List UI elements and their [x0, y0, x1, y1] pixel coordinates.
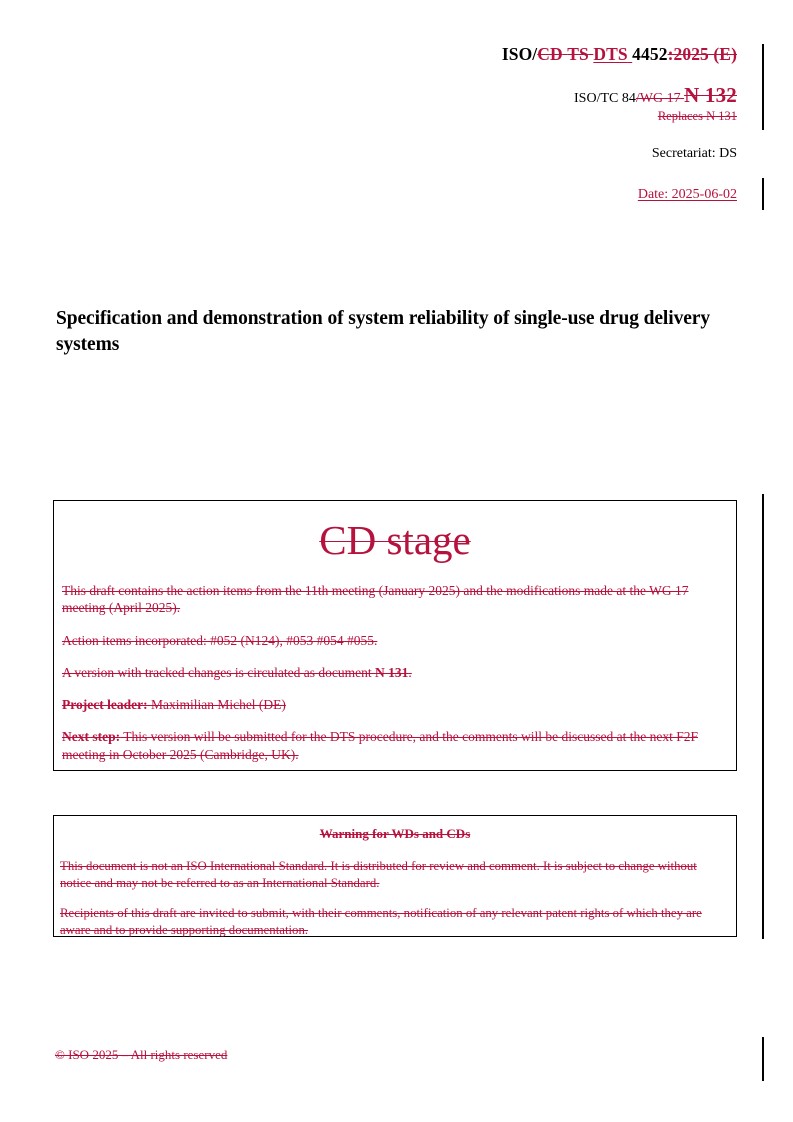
reference-number: 4452	[632, 44, 667, 64]
tracked-changes-tail: .	[408, 665, 411, 680]
stage-paragraph-action-items: Action items incorporated: #052 (N124), …	[62, 632, 728, 649]
tracked-changes-lead: A version with tracked changes is circul…	[62, 665, 375, 680]
stage-paragraph-draft-contents-text: This draft contains the action items fro…	[62, 583, 688, 615]
change-bar-date	[762, 178, 764, 210]
page-footer: © ISO 2025 – All rights reserved	[55, 1047, 227, 1063]
reference-deleted-stage-ts: TS	[567, 44, 589, 64]
change-bar-footer	[762, 1037, 764, 1081]
committee-deleted-wg: /WG 17	[636, 91, 681, 106]
project-leader-value: Maximilian Michel (DE)	[148, 697, 286, 712]
stage-paragraph-action-items-text: Action items incorporated: #052 (N124), …	[62, 633, 377, 648]
warning-title: Warning for WDs and CDs	[54, 826, 736, 842]
document-header: ISO/CD TS DTS 4452:2025 (E) ISO/TC 84/WG…	[0, 44, 737, 203]
stage-box: CD stage This draft contains the action …	[53, 500, 737, 771]
date-text: Date: 2025-06-02	[638, 187, 737, 202]
stage-box-body: This draft contains the action items fro…	[54, 582, 736, 763]
warning-paragraph-not-standard: This document is not an ISO Internationa…	[60, 858, 730, 891]
tracked-changes-document-number: N 131	[375, 665, 408, 680]
committee-prefix: ISO/TC 84	[574, 91, 636, 106]
copyright-notice: © ISO 2025 – All rights reserved	[55, 1047, 227, 1062]
committee-line: ISO/TC 84/WG 17 N 132	[0, 83, 737, 108]
warning-paragraph-patent-rights: Recipients of this draft are invited to …	[60, 905, 730, 938]
reference-prefix: ISO/	[502, 44, 537, 64]
replaces-line: Replaces N 131	[0, 109, 737, 124]
document-page: ISO/CD TS DTS 4452:2025 (E) ISO/TC 84/WG…	[0, 0, 793, 1122]
date-line: Date: 2025-06-02	[0, 187, 737, 203]
document-reference-line: ISO/CD TS DTS 4452:2025 (E)	[0, 44, 737, 66]
stage-paragraph-draft-contents: This draft contains the action items fro…	[62, 582, 728, 617]
change-bar-boxes	[762, 494, 764, 939]
next-step-value: This version will be submitted for the D…	[62, 729, 698, 761]
stage-heading: CD stage	[54, 517, 736, 564]
stage-paragraph-tracked-changes: A version with tracked changes is circul…	[62, 664, 728, 681]
secretariat-text: Secretariat: DS	[652, 146, 737, 161]
warning-paragraph-not-standard-text: This document is not an ISO Internationa…	[60, 859, 697, 890]
warning-title-text: Warning for WDs and CDs	[320, 826, 471, 841]
change-bar-header	[762, 44, 764, 130]
reference-deleted-suffix: :2025 (E)	[668, 44, 737, 64]
project-leader-label: Project leader:	[62, 697, 148, 712]
stage-paragraph-project-leader: Project leader: Maximilian Michel (DE)	[62, 696, 728, 713]
warning-paragraph-patent-rights-text: Recipients of this draft are invited to …	[60, 906, 702, 937]
next-step-label: Next step:	[62, 729, 120, 744]
committee-n-number: N 132	[684, 83, 737, 107]
page-title: Specification and demonstration of syste…	[56, 306, 716, 358]
stage-paragraph-next-step: Next step: This version will be submitte…	[62, 728, 728, 763]
secretariat-line: Secretariat: DS	[0, 146, 737, 162]
replaces-text: Replaces N 131	[658, 109, 737, 123]
reference-deleted-stage-cd: CD	[537, 44, 562, 64]
warning-box: Warning for WDs and CDs This document is…	[53, 815, 737, 937]
stage-heading-text: CD stage	[319, 517, 470, 563]
warning-box-body: This document is not an ISO Internationa…	[54, 858, 736, 939]
reference-inserted-stage-dts: DTS	[593, 44, 627, 64]
